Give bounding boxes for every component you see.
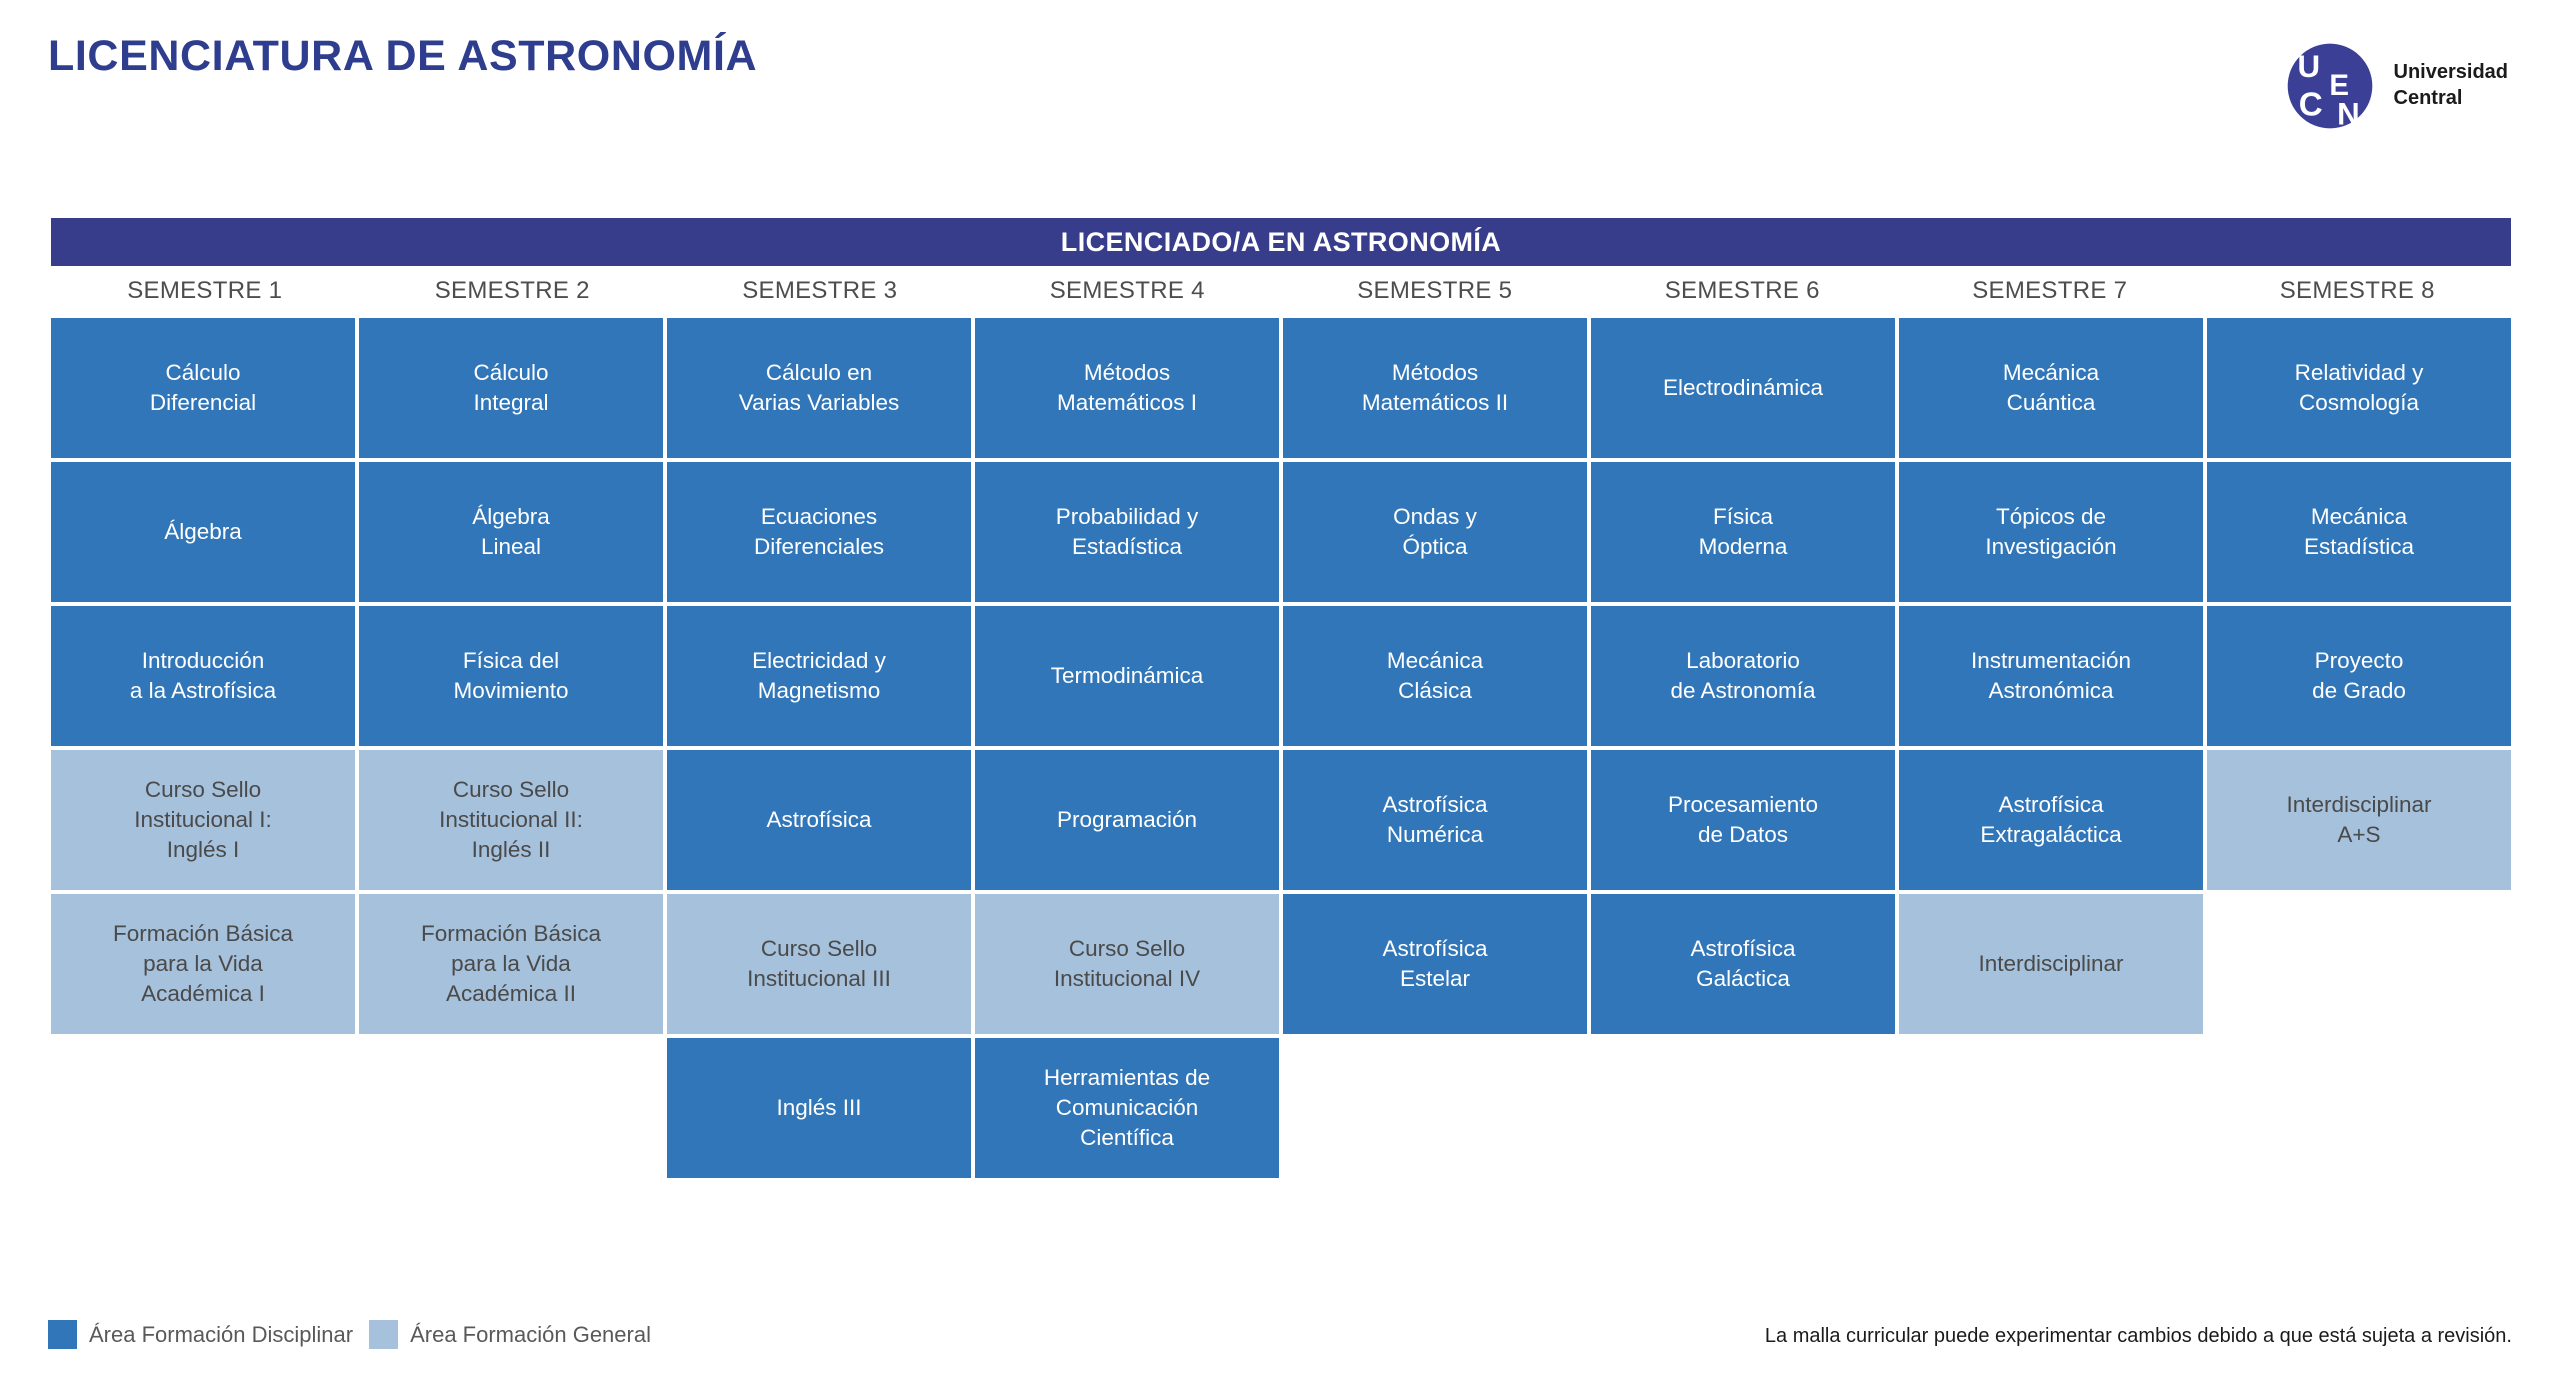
course-cell-empty <box>1899 1038 2203 1178</box>
course-cell[interactable]: Física Moderna <box>1591 462 1895 602</box>
course-cell[interactable]: Curso Sello Institucional II: Inglés II <box>359 750 663 890</box>
course-cell[interactable]: Probabilidad y Estadística <box>975 462 1279 602</box>
semester-header-7: SEMESTRE 7 <box>1896 266 2204 316</box>
semester-header-3: SEMESTRE 3 <box>666 266 974 316</box>
curriculum-grid: Cálculo DiferencialCálculo IntegralCálcu… <box>51 318 2511 1178</box>
semester-header-8: SEMESTRE 8 <box>2204 266 2512 316</box>
course-cell[interactable]: Astrofísica <box>667 750 971 890</box>
course-cell[interactable]: Formación Básica para la Vida Académica … <box>51 894 355 1034</box>
course-cell[interactable]: Álgebra Lineal <box>359 462 663 602</box>
semester-header-2: SEMESTRE 2 <box>359 266 667 316</box>
course-cell[interactable]: Astrofísica Galáctica <box>1591 894 1895 1034</box>
course-cell[interactable]: Astrofísica Estelar <box>1283 894 1587 1034</box>
course-cell[interactable]: Proyecto de Grado <box>2207 606 2511 746</box>
legend-item-general: Área Formación General <box>369 1320 651 1349</box>
university-brand: U C E N Universidad Central <box>2284 40 2508 132</box>
course-cell[interactable]: Ondas y Óptica <box>1283 462 1587 602</box>
course-cell[interactable]: Interdisciplinar <box>1899 894 2203 1034</box>
semester-header-4: SEMESTRE 4 <box>974 266 1282 316</box>
disclaimer-text: La malla curricular puede experimentar c… <box>1765 1325 2512 1348</box>
course-cell[interactable]: Mecánica Clásica <box>1283 606 1587 746</box>
course-cell[interactable]: Instrumentación Astronómica <box>1899 606 2203 746</box>
page-title: LICENCIATURA DE ASTRONOMÍA <box>48 32 757 81</box>
course-cell[interactable]: Astrofísica Numérica <box>1283 750 1587 890</box>
legend-label-general: Área Formación General <box>410 1322 651 1348</box>
course-cell[interactable]: Cálculo Integral <box>359 318 663 458</box>
course-cell[interactable]: Interdisciplinar A+S <box>2207 750 2511 890</box>
semester-header-row: SEMESTRE 1 SEMESTRE 2 SEMESTRE 3 SEMESTR… <box>51 266 2511 316</box>
course-cell[interactable]: Métodos Matemáticos II <box>1283 318 1587 458</box>
ucen-logo-icon: U C E N <box>2284 40 2376 132</box>
legend-swatch-general-icon <box>369 1320 398 1349</box>
course-cell[interactable]: Álgebra <box>51 462 355 602</box>
page-footer: Área Formación Disciplinar Área Formació… <box>0 1320 2560 1380</box>
course-cell[interactable]: Procesamiento de Datos <box>1591 750 1895 890</box>
course-cell-empty <box>51 1038 355 1178</box>
course-cell-empty <box>1591 1038 1895 1178</box>
svg-text:U: U <box>2297 49 2320 84</box>
university-name: Universidad Central <box>2394 60 2508 111</box>
course-cell[interactable]: Inglés III <box>667 1038 971 1178</box>
semester-header-6: SEMESTRE 6 <box>1589 266 1897 316</box>
course-cell-empty <box>1283 1038 1587 1178</box>
course-cell[interactable]: Métodos Matemáticos I <box>975 318 1279 458</box>
course-cell-empty <box>2207 894 2511 1034</box>
course-cell[interactable]: Relatividad y Cosmología <box>2207 318 2511 458</box>
course-cell[interactable]: Formación Básica para la Vida Académica … <box>359 894 663 1034</box>
course-cell[interactable]: Electricidad y Magnetismo <box>667 606 971 746</box>
course-cell-empty <box>2207 1038 2511 1178</box>
course-cell[interactable]: Cálculo en Varias Variables <box>667 318 971 458</box>
course-cell[interactable]: Curso Sello Institucional IV <box>975 894 1279 1034</box>
course-cell[interactable]: Programación <box>975 750 1279 890</box>
course-cell-empty <box>359 1038 663 1178</box>
course-cell[interactable]: Laboratorio de Astronomía <box>1591 606 1895 746</box>
legend-swatch-disciplinar-icon <box>48 1320 77 1349</box>
course-cell[interactable]: Herramientas de Comunicación Científica <box>975 1038 1279 1178</box>
course-cell[interactable]: Mecánica Cuántica <box>1899 318 2203 458</box>
course-cell[interactable]: Curso Sello Institucional I: Inglés I <box>51 750 355 890</box>
course-cell[interactable]: Mecánica Estadística <box>2207 462 2511 602</box>
course-cell[interactable]: Tópicos de Investigación <box>1899 462 2203 602</box>
legend-label-disciplinar: Área Formación Disciplinar <box>89 1322 353 1348</box>
degree-banner: LICENCIADO/A EN ASTRONOMÍA <box>51 218 2511 266</box>
course-cell[interactable]: Ecuaciones Diferenciales <box>667 462 971 602</box>
semester-header-5: SEMESTRE 5 <box>1281 266 1589 316</box>
course-cell[interactable]: Física del Movimiento <box>359 606 663 746</box>
semester-header-1: SEMESTRE 1 <box>51 266 359 316</box>
svg-text:N: N <box>2337 97 2360 132</box>
course-cell[interactable]: Cálculo Diferencial <box>51 318 355 458</box>
legend-item-disciplinar: Área Formación Disciplinar <box>48 1320 353 1349</box>
course-cell[interactable]: Astrofísica Extragaláctica <box>1899 750 2203 890</box>
course-cell[interactable]: Termodinámica <box>975 606 1279 746</box>
legend: Área Formación Disciplinar Área Formació… <box>48 1320 651 1349</box>
course-cell[interactable]: Electrodinámica <box>1591 318 1895 458</box>
page-header: LICENCIATURA DE ASTRONOMÍA U C E N Unive… <box>0 0 2560 190</box>
svg-text:C: C <box>2298 86 2322 123</box>
course-cell[interactable]: Curso Sello Institucional III <box>667 894 971 1034</box>
course-cell[interactable]: Introducción a la Astrofísica <box>51 606 355 746</box>
